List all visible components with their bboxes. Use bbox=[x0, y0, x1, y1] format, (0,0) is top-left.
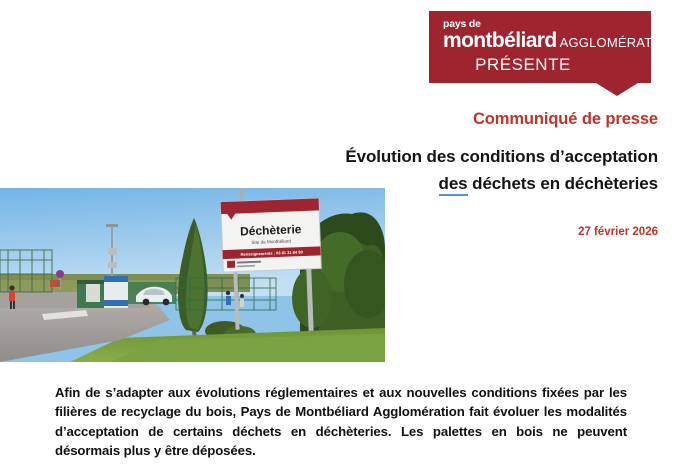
photo-illustration: Déchèterie Site de Montbéliard Renseigne… bbox=[0, 188, 385, 362]
pma-logo: pays de montbéliardAGGLOMÉRATION PRÉSENT… bbox=[429, 11, 651, 75]
publication-date: 27 février 2026 bbox=[578, 226, 658, 238]
svg-text:Déchèterie: Déchèterie bbox=[240, 222, 302, 238]
logo-name-line: montbéliardAGGLOMÉRATION bbox=[443, 30, 651, 54]
page-title-underlined-word: des bbox=[439, 174, 468, 196]
page-title-line-1: Évolution des conditions d’acceptation bbox=[188, 143, 658, 170]
logo-montbeliard-text: montbéliard bbox=[443, 29, 557, 52]
dechetterie-photo: Déchèterie Site de Montbéliard Renseigne… bbox=[0, 188, 385, 362]
page-title-line-2-rest: déchets en déchèteries bbox=[468, 174, 658, 193]
logo-presente-text: PRÉSENTE bbox=[429, 54, 651, 75]
press-release-label: Communiqué de presse bbox=[473, 110, 658, 129]
body-paragraph: Afin de s’adapter aux évolutions régleme… bbox=[55, 383, 627, 460]
presenter-banner: pays de montbéliardAGGLOMÉRATION PRÉSENT… bbox=[429, 11, 651, 83]
banner-pointer-triangle-icon bbox=[596, 83, 638, 96]
logo-agglomeration-text: AGGLOMÉRATION bbox=[560, 35, 676, 50]
